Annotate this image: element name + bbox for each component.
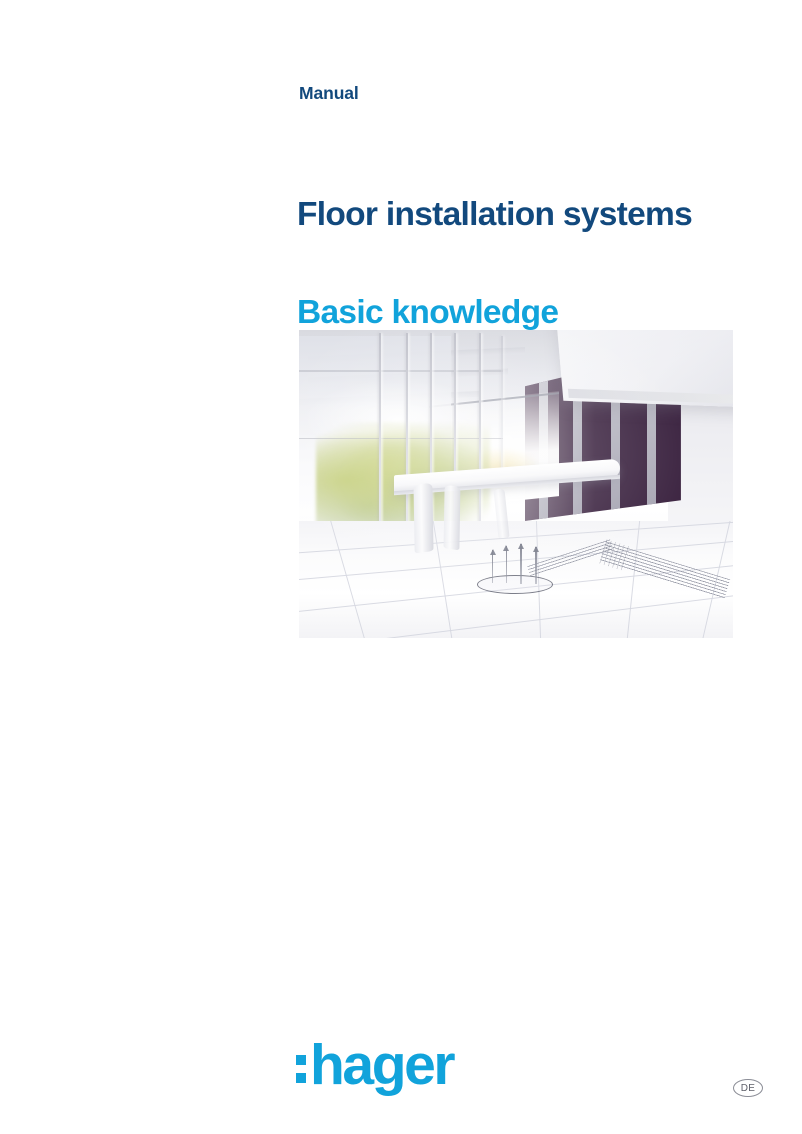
logo-colon-dot-upper — [296, 1055, 306, 1065]
page-title: Floor installation systems — [297, 197, 692, 233]
image-color-grade — [299, 330, 733, 638]
logo-colon-dot-lower — [296, 1073, 306, 1083]
logo-wordmark: hager — [310, 1037, 453, 1094]
office-scene — [299, 330, 733, 638]
page-subtitle: Basic knowledge — [297, 295, 558, 331]
document-type-label: Manual — [299, 84, 359, 103]
hager-logo: hager — [296, 1043, 456, 1097]
language-badge: DE — [733, 1079, 763, 1097]
cover-page: Manual Floor installation systems Basic … — [0, 0, 802, 1134]
cover-image — [299, 330, 733, 638]
